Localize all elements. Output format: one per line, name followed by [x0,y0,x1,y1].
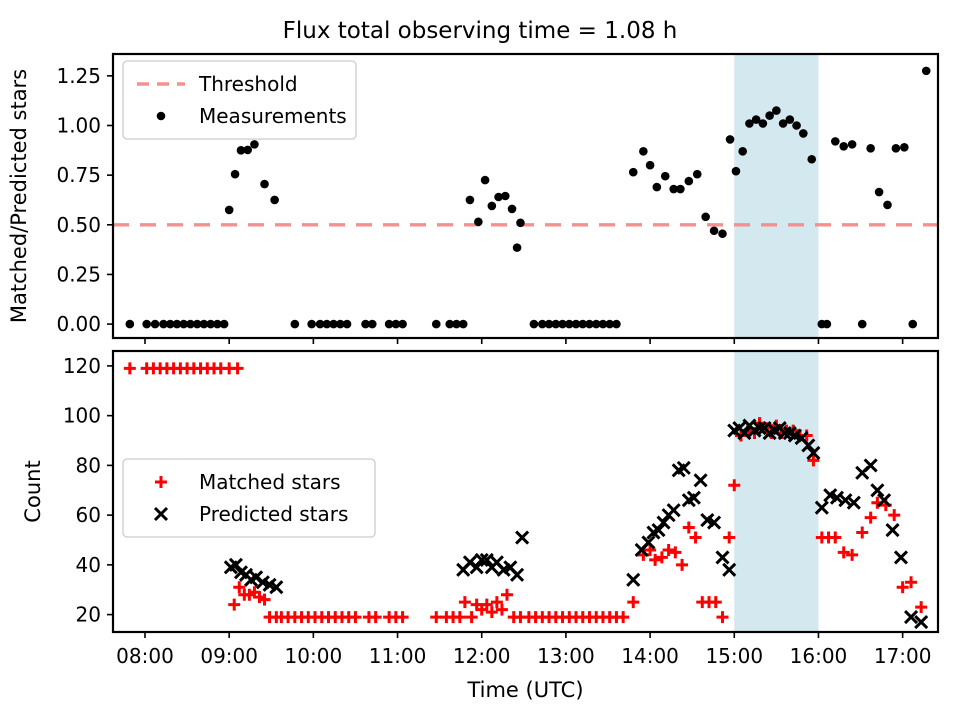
x-tick-label: 08:00 [116,644,174,668]
data-point [661,172,670,181]
y-axis-label: Count [21,460,45,522]
data-point [656,551,668,563]
data-point [663,544,675,556]
data-point [343,320,352,329]
x-tick-label: 16:00 [790,644,848,668]
chart-title: Flux total observing time = 1.08 h [283,18,678,44]
legend: ThresholdMeasurements [123,61,356,139]
x-tick-label: 10:00 [285,644,343,668]
data-point [829,532,841,544]
legend-label: Matched stars [199,470,341,494]
data-point [838,546,850,558]
data-point [839,142,848,151]
y-tick-label: 0.50 [56,213,101,237]
legend: Matched starsPredicted stars [123,459,375,537]
data-point [723,564,735,576]
data-point [690,532,702,544]
data-point [716,551,728,563]
data-point [871,484,883,496]
data-point [513,243,522,252]
data-point [474,218,483,227]
data-point [888,509,900,521]
y-tick-label: 40 [76,553,101,577]
data-point [627,596,639,608]
x-tick-label: 12:00 [453,644,511,668]
data-point [617,611,629,623]
data-point [629,168,638,177]
data-point [228,599,240,611]
y-tick-label: 20 [76,603,101,627]
data-point [799,129,808,138]
y-tick-label: 0.75 [56,163,101,187]
y-tick-label: 120 [63,354,101,378]
data-point [875,188,884,197]
data-point [738,147,747,156]
data-point [501,192,510,201]
y-tick-label: 80 [76,453,101,477]
ratio-panel: 0.000.250.500.751.001.25Matched/Predicte… [7,54,938,344]
data-point [397,611,409,623]
data-point [866,144,875,153]
data-point [646,161,655,170]
data-point [807,155,816,164]
x-tick-label: 15:00 [705,644,763,668]
data-point [693,170,702,179]
y-tick-label: 1.00 [56,113,101,137]
highlight-span [734,351,818,632]
data-point [142,320,151,329]
data-point [831,137,840,146]
data-point [865,459,877,471]
data-point [676,185,685,194]
data-point [481,176,490,185]
x-tick-label: 17:00 [874,644,932,668]
data-point [225,206,234,215]
x-tick-label: 14:00 [621,644,679,668]
data-point [683,522,695,534]
data-point [900,143,909,152]
data-point [639,147,648,156]
data-point [823,320,832,329]
data-point [501,589,513,601]
data-point [151,320,160,329]
data-point [508,205,517,214]
data-point [695,474,707,486]
data-point [250,140,259,149]
data-point [368,320,377,329]
x-tick-label: 09:00 [200,644,258,668]
data-point [307,320,316,329]
data-point [732,167,741,176]
data-point [669,546,681,558]
data-point [124,362,136,374]
y-tick-label: 0.25 [56,262,101,286]
data-point [786,115,795,124]
data-point [723,532,735,544]
data-point [466,196,475,205]
data-point [792,121,801,130]
data-point [488,202,497,211]
data-point [716,611,728,623]
data-point [454,611,466,623]
highlight-span [734,54,818,338]
data-point [398,320,407,329]
y-tick-label: 60 [76,503,101,527]
data-point [676,559,688,571]
data-point [883,201,892,210]
data-point [865,512,877,524]
data-point [895,551,907,563]
y-tick-label: 0.00 [56,312,101,336]
figure-container: Flux total observing time = 1.08 h 0.000… [0,0,960,720]
data-point [516,532,528,544]
data-point [349,611,361,623]
data-point [270,196,279,205]
y-tick-label: 100 [63,404,101,428]
data-point [848,140,857,149]
data-point [516,219,525,228]
data-point [243,146,252,155]
data-point [370,611,382,623]
data-point [710,596,722,608]
data-point [627,574,639,586]
data-point [612,320,621,329]
data-point [459,596,471,608]
data-point [653,183,662,192]
series-measurements-low [513,243,522,252]
legend-label: Measurements [199,104,347,128]
data-point [232,362,244,374]
data-point [892,144,901,153]
data-point [291,320,300,329]
data-point [668,504,680,516]
count-panel: 2040608010012008:0009:0010:0011:0012:001… [21,351,938,702]
chart-canvas: Flux total observing time = 1.08 h 0.000… [0,0,960,720]
data-point [466,611,478,623]
data-point [126,320,135,329]
data-point [856,527,868,539]
data-point [432,320,441,329]
data-point [718,229,727,238]
data-point [726,135,735,144]
legend-label: Predicted stars [199,502,348,526]
data-point [759,119,768,128]
x-tick-label: 13:00 [537,644,595,668]
x-tick-label: 11:00 [369,644,427,668]
data-point [922,67,931,76]
data-point [459,320,468,329]
legend-label: Threshold [198,72,298,96]
data-point [701,213,710,222]
data-point [511,569,523,581]
data-point [772,106,781,115]
data-point [231,170,240,179]
data-point [887,524,899,536]
data-point [846,549,858,561]
data-point [260,180,269,189]
x-axis-label: Time (UTC) [466,678,583,702]
data-point [685,177,694,186]
data-point [530,320,539,329]
data-point [710,226,719,235]
data-point [908,320,917,329]
y-axis-label: Matched/Predicted stars [7,69,31,323]
data-point [220,320,229,329]
data-point [858,320,867,329]
legend-marker-dot [157,112,166,121]
y-tick-label: 1.25 [56,64,101,88]
